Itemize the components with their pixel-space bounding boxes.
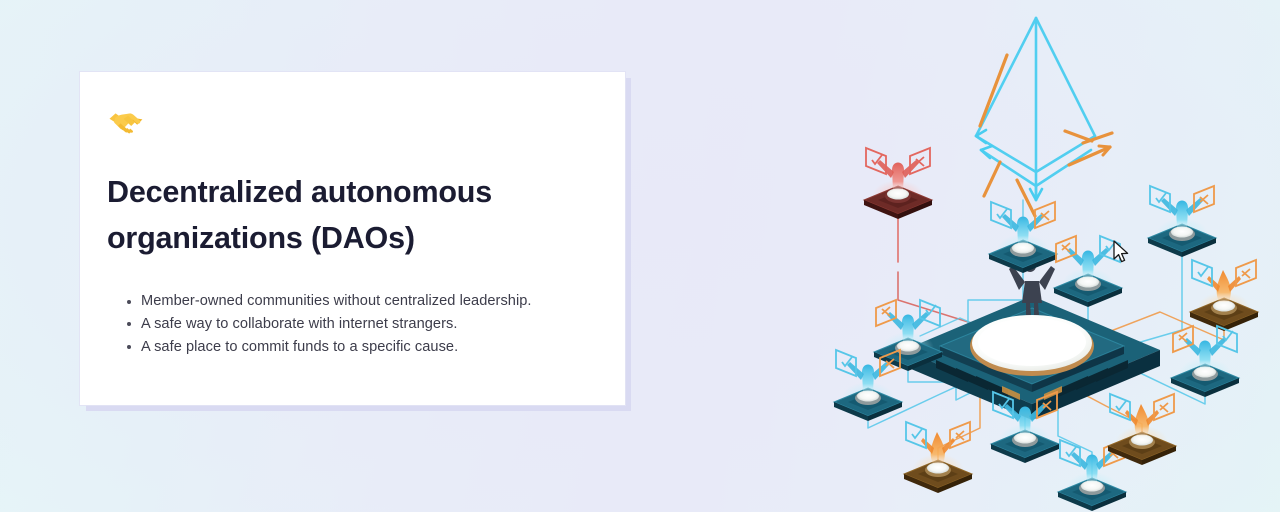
page-title: Decentralized autonomous organizations (… (107, 169, 607, 262)
ballot-approve-icon (991, 202, 1011, 228)
ballot-reject-icon (876, 300, 896, 326)
node-orange-bottom-left (904, 422, 972, 493)
ballot-approve-icon (1150, 186, 1170, 212)
dao-network-illustration (820, 0, 1280, 512)
list-item: Member-owned communities without central… (141, 290, 621, 312)
dao-info-card: Decentralized autonomous organizations (… (80, 72, 625, 405)
mouse-pointer (1112, 240, 1132, 266)
node-cyan-left-upper (874, 300, 942, 371)
ballot-reject-icon (1173, 326, 1193, 352)
node-cyan-top-right (1148, 186, 1216, 257)
page-root: Decentralized autonomous organizations (… (0, 0, 1280, 512)
ethereum-diamond-wireframe (976, 18, 1112, 216)
ballot-approve-icon (1192, 260, 1212, 286)
ballot-reject-icon (1194, 186, 1214, 212)
handshake-icon (108, 106, 144, 136)
node-cyan-left-lower (834, 350, 902, 421)
ballot-approve-icon (836, 350, 856, 376)
node-orange-bottom-right (1108, 394, 1176, 465)
title-line-2: organizations (DAOs) (107, 215, 607, 261)
list-item: A safe way to collaborate with internet … (141, 313, 621, 335)
node-red-top-left (864, 148, 932, 219)
ballot-approve-icon (906, 422, 926, 448)
dao-benefits-list: Member-owned communities without central… (121, 290, 621, 359)
central-dao-hub-chip (904, 260, 1160, 420)
ballot-reject-icon (1154, 394, 1174, 420)
ballot-reject-icon (1236, 260, 1256, 286)
ballot-approve-icon (866, 148, 886, 174)
list-item: A safe place to commit funds to a specif… (141, 336, 621, 358)
node-orange-right (1190, 260, 1258, 331)
node-cyan-far-right (1171, 326, 1239, 397)
title-line-1: Decentralized autonomous (107, 169, 607, 215)
ballot-approve-icon (1060, 440, 1080, 466)
ballot-reject-icon (910, 148, 930, 174)
ballot-reject-icon (1056, 236, 1076, 262)
ballot-reject-icon (1035, 202, 1055, 228)
